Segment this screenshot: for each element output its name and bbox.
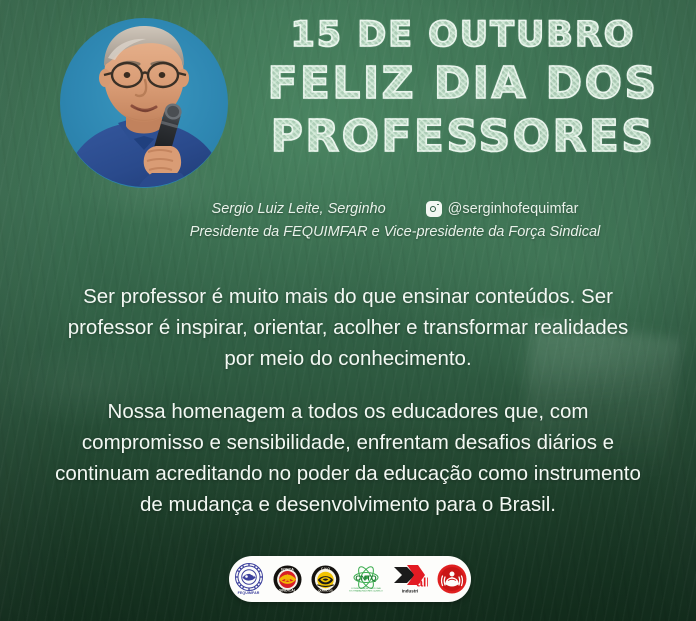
attribution-block: Sergio Luiz Leite, Serginho @serginhofeq…: [160, 198, 630, 244]
speaker-role: Presidente da FEQUIMFAR e Vice-president…: [160, 221, 630, 243]
fequimfar-logo: FEQUIMFAR: [234, 562, 264, 596]
svg-text:industri: industri: [401, 588, 418, 593]
instagram-icon: [426, 201, 442, 217]
industriall-logo: industri all: [392, 564, 428, 595]
instagram-link[interactable]: @serginhofequimfar: [426, 198, 579, 220]
partner-logo-bar: FEQUIMFAR FORÇA SINDICAL: [229, 556, 471, 602]
svg-text:QUÍMICOS: QUÍMICOS: [318, 587, 333, 592]
cnq-logo: C N Q QUÍMICOS: [311, 565, 340, 594]
headline-block: 15 DE OUTUBRO FELIZ DIA DOS PROFESSORES: [243, 18, 683, 159]
headline-line-2: PROFESSORES: [243, 115, 683, 159]
portrait-illustration: [60, 18, 228, 188]
forca-sindical-logo: FORÇA SINDICAL: [273, 565, 302, 594]
headline-date: 15 DE OUTUBRO: [243, 18, 683, 53]
headline-line-1: FELIZ DIA DOS: [243, 62, 683, 106]
speaker-name: Sergio Luiz Leite, Serginho: [212, 198, 386, 220]
portrait-avatar: [60, 18, 228, 188]
svg-text:all: all: [416, 575, 428, 589]
cntq-logo: CNTQ CONFEDERAÇÃO NACIONAL DOS TRABALHAD…: [349, 564, 383, 594]
message-paragraph-2: Nossa homenagem a todos os educadores qu…: [52, 396, 644, 521]
svg-text:C N Q: C N Q: [321, 566, 330, 570]
instagram-handle: @serginhofequimfar: [448, 198, 579, 220]
svg-text:CONFEDERAÇÃO NACIONAL: CONFEDERAÇÃO NACIONAL: [350, 587, 381, 590]
fequimfar-caption: FEQUIMFAR: [238, 592, 260, 596]
poster-canvas: 15 DE OUTUBRO FELIZ DIA DOS PROFESSORES …: [0, 0, 696, 621]
red-circle-logo: [437, 564, 467, 594]
svg-text:FORÇA: FORÇA: [281, 567, 294, 571]
cntq-caption: CNTQ: [355, 574, 376, 583]
attribution-name-row: Sergio Luiz Leite, Serginho @serginhofeq…: [160, 198, 630, 220]
message-paragraph-1: Ser professor é muito mais do que ensina…: [52, 281, 644, 374]
svg-text:SINDICAL: SINDICAL: [278, 588, 296, 592]
